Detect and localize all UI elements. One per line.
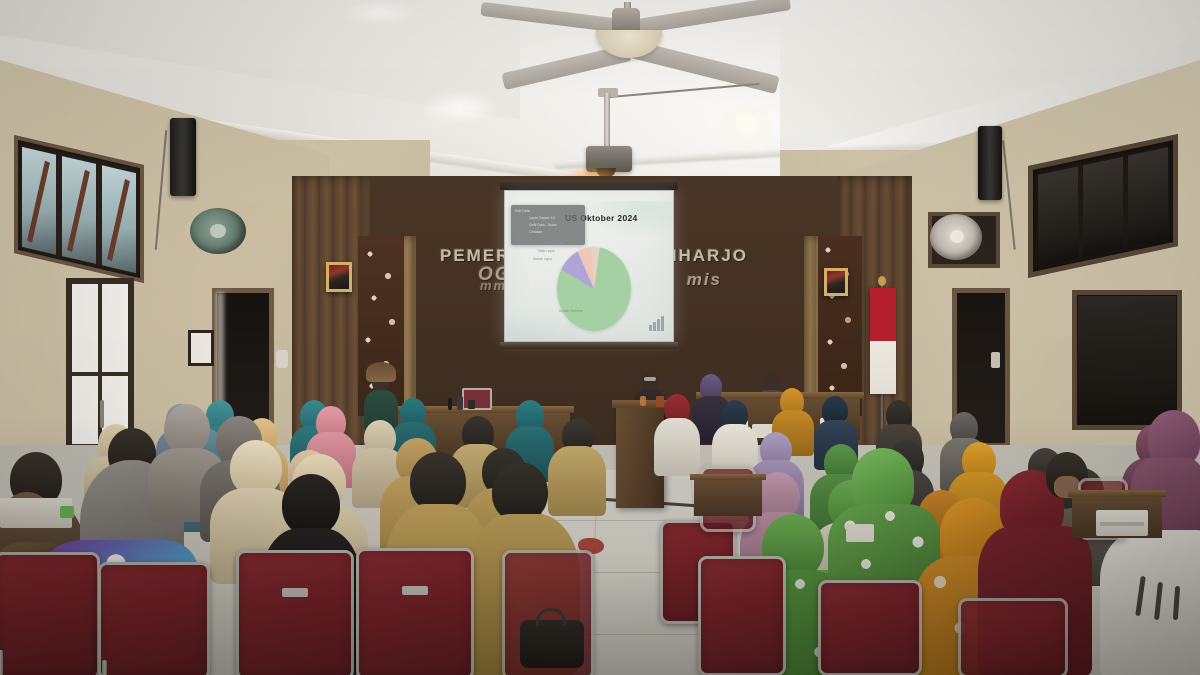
cup xyxy=(468,400,475,409)
side-table xyxy=(694,478,762,516)
cup xyxy=(656,396,664,407)
menu-item-layar-depan[interactable]: Layar Depan 1/1 xyxy=(515,215,581,222)
bar-chart-icon xyxy=(649,315,665,331)
projector-mount-pole xyxy=(604,93,610,148)
front-chair-back[interactable] xyxy=(462,388,492,410)
hair-head xyxy=(410,452,466,512)
indonesian-flag xyxy=(870,288,896,394)
window-pane xyxy=(1083,157,1123,258)
pie-label-2: Tidak Lapor xyxy=(537,249,555,253)
portrait-image xyxy=(329,265,349,289)
snack-box-seam xyxy=(1100,522,1144,526)
microphone[interactable] xyxy=(448,398,452,410)
person-head xyxy=(763,372,780,392)
window-pane xyxy=(102,165,136,273)
menu-item-cetakan[interactable]: Cetakan xyxy=(515,229,581,236)
window-transom xyxy=(66,372,134,376)
window-pane xyxy=(1078,296,1176,424)
person-body xyxy=(1100,530,1200,675)
slide-dropdown-menu[interactable]: Edit Data Layar Depan 1/1 Detil Data - B… xyxy=(511,205,585,245)
person-body xyxy=(654,418,700,476)
pie-chart xyxy=(557,247,631,331)
side-table-top xyxy=(690,474,766,480)
green-item xyxy=(60,506,74,518)
person-body xyxy=(548,446,606,516)
meeting-room-photo: PEMERINT MHARJO OG mis mm US Oktober 202… xyxy=(0,0,1200,675)
hair-head xyxy=(492,462,548,522)
door-knob[interactable] xyxy=(991,352,1000,368)
window-pane xyxy=(22,147,56,255)
window-pane xyxy=(1128,147,1168,248)
menu-item-detil-data[interactable]: Detil Data - Bulan xyxy=(515,222,581,229)
decorative-batik-panel-right xyxy=(818,236,862,416)
drinking-glass xyxy=(640,396,646,406)
pie-center-label: Sudah Terkirim xyxy=(559,309,583,313)
window-pane xyxy=(1038,166,1078,267)
side-table-top xyxy=(1068,490,1166,497)
projection-screen: US Oktober 2024 Edit Data Layar Depan 1/… xyxy=(504,190,674,342)
wall-sign-sub-right: mis xyxy=(687,270,722,290)
window-pane xyxy=(62,156,96,264)
snack-box xyxy=(846,524,874,542)
handbag xyxy=(520,620,584,668)
framed-certificate xyxy=(188,330,214,366)
wall-speaker-right xyxy=(978,126,1002,200)
portrait-image xyxy=(827,271,845,293)
wall-fan-hub xyxy=(950,230,964,243)
pie-label-3: Sudah Lapor xyxy=(533,257,552,261)
hijab-head-black xyxy=(282,474,340,536)
menu-item-edit-data[interactable]: Edit Data xyxy=(515,208,581,215)
ceiling-light-bulb xyxy=(736,116,756,130)
window-handle[interactable] xyxy=(100,400,104,428)
person-headwear xyxy=(366,362,396,382)
ceiling-light-glow-topleft xyxy=(340,0,420,26)
projection-screen-bottom-bar xyxy=(500,342,678,349)
wall-fan-hub xyxy=(210,224,226,238)
pie-label-1: Belum Lapor xyxy=(545,241,564,245)
president-portrait xyxy=(326,262,352,292)
vice-president-portrait xyxy=(824,268,848,296)
wall-sign-right: MHARJO xyxy=(662,246,748,266)
ceiling-light-glow-left xyxy=(420,90,500,124)
eyeglasses xyxy=(644,377,656,381)
flag-finial xyxy=(878,276,886,286)
light-switch[interactable] xyxy=(276,350,288,368)
wall-speaker-left xyxy=(170,118,196,196)
water-bottle xyxy=(457,396,463,410)
hijab-head xyxy=(164,404,210,454)
projection-screen-case xyxy=(500,182,678,190)
